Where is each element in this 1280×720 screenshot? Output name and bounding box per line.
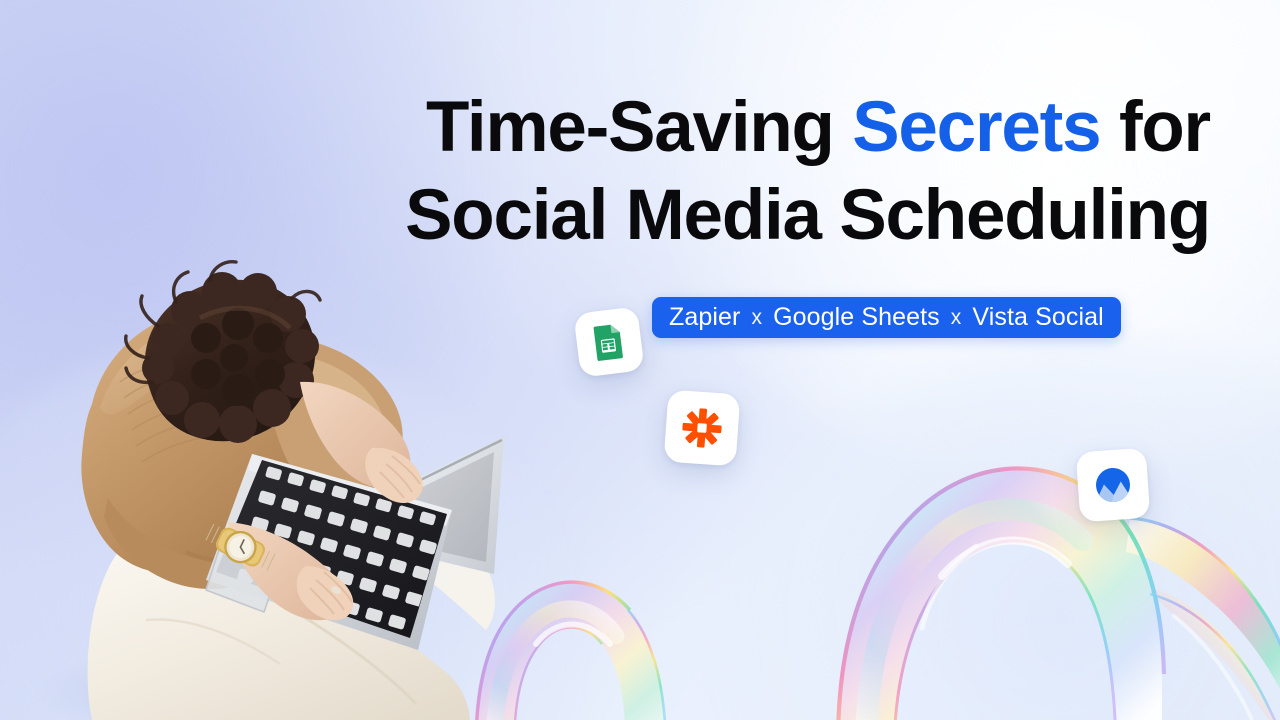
integration-separator-2: x [951,307,962,328]
google-sheets-icon [587,320,632,365]
integration-app-vista-social: Vista Social [972,305,1103,330]
zapier-icon [680,406,725,451]
vista-social-icon [1091,463,1136,508]
integration-app-zapier: Zapier [669,305,740,330]
integration-app-google-sheets: Google Sheets [773,305,940,330]
google-sheets-icon-tile[interactable] [573,306,644,377]
vista-social-icon-tile[interactable] [1076,448,1151,523]
integration-separator-1: x [751,307,762,328]
woman-typing-on-laptop-photo [0,222,520,720]
page-title-line-1-suffix: for [1100,88,1210,167]
zapier-icon-tile[interactable] [664,390,741,467]
hero-banner: Time-Saving Secrets for Social Media Sch… [0,0,1280,720]
background-bloom-bottom-right [720,340,1280,720]
page-title-line-1-prefix: Time-Saving [426,88,852,167]
integration-badge[interactable]: Zapier x Google Sheets x Vista Social [652,297,1121,338]
page-title-line-1: Time-Saving Secrets for [310,84,1210,172]
page-title-accent-word: Secrets [852,88,1100,167]
iridescent-ribbon-right [830,448,1280,720]
